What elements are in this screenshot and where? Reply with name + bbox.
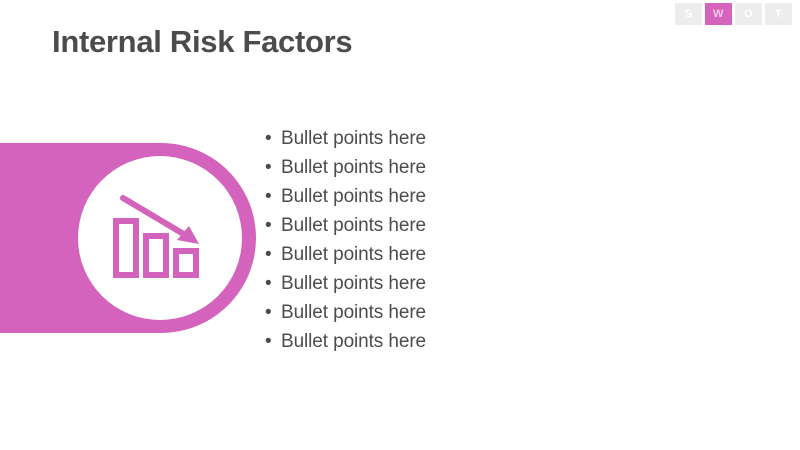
swot-tab-t[interactable]: T bbox=[765, 3, 792, 25]
list-item: • Bullet points here bbox=[265, 327, 685, 356]
list-item-label: Bullet points here bbox=[281, 269, 426, 298]
list-item: • Bullet points here bbox=[265, 124, 685, 153]
swot-tab-w[interactable]: W bbox=[705, 3, 732, 25]
swot-tab-w-label: W bbox=[713, 8, 724, 20]
swot-tab-t-label: T bbox=[775, 8, 782, 20]
list-item-label: Bullet points here bbox=[281, 124, 426, 153]
swot-tab-s[interactable]: S bbox=[675, 3, 702, 25]
bullet-marker-icon: • bbox=[265, 182, 281, 211]
bullet-marker-icon: • bbox=[265, 153, 281, 182]
list-item-label: Bullet points here bbox=[281, 211, 426, 240]
swot-tab-o-label: O bbox=[744, 8, 753, 20]
list-item: • Bullet points here bbox=[265, 298, 685, 327]
list-item-label: Bullet points here bbox=[281, 298, 426, 327]
list-item-label: Bullet points here bbox=[281, 182, 426, 211]
swot-nav: S W O T bbox=[675, 3, 792, 25]
list-item-label: Bullet points here bbox=[281, 153, 426, 182]
bullet-list: • Bullet points here • Bullet points her… bbox=[265, 124, 685, 356]
list-item: • Bullet points here bbox=[265, 182, 685, 211]
bullet-marker-icon: • bbox=[265, 211, 281, 240]
list-item-label: Bullet points here bbox=[281, 240, 426, 269]
page-title: Internal Risk Factors bbox=[52, 24, 352, 60]
bullet-marker-icon: • bbox=[265, 240, 281, 269]
list-item: • Bullet points here bbox=[265, 153, 685, 182]
list-item: • Bullet points here bbox=[265, 211, 685, 240]
declining-bar-chart-icon bbox=[113, 193, 207, 278]
list-item: • Bullet points here bbox=[265, 269, 685, 298]
list-item-label: Bullet points here bbox=[281, 327, 426, 356]
list-item: • Bullet points here bbox=[265, 240, 685, 269]
bullet-marker-icon: • bbox=[265, 298, 281, 327]
swot-tab-s-label: S bbox=[685, 8, 693, 20]
slide-canvas: S W O T Internal Risk Factors • Bullet p bbox=[0, 0, 800, 450]
bullet-marker-icon: • bbox=[265, 269, 281, 298]
bullet-marker-icon: • bbox=[265, 124, 281, 153]
swot-tab-o[interactable]: O bbox=[735, 3, 762, 25]
bullet-marker-icon: • bbox=[265, 327, 281, 356]
